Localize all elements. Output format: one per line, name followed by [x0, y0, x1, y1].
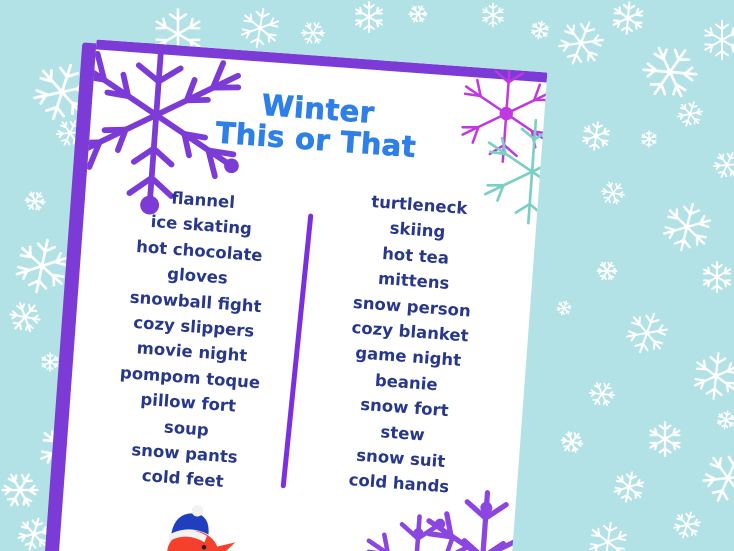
right-column-list: turtleneckskiinghot teamittenssnow perso…: [290, 185, 518, 504]
snowflake-icon: [618, 304, 677, 363]
snowflake-icon: [608, 0, 647, 38]
snowflake-icon: [646, 420, 684, 458]
snowflake-icon: [235, 3, 286, 54]
snowflake-icon: [528, 18, 552, 42]
card-top-band: [96, 39, 548, 82]
snowflake-icon: [609, 467, 649, 507]
snowflake-icon: [583, 517, 633, 551]
snowflake-icon: [595, 175, 632, 212]
snowflake-icon: [640, 130, 658, 148]
snowflake-icon: [20, 186, 51, 217]
snowflake-icon: [1, 293, 49, 341]
bird-with-winter-hat-icon: [149, 500, 241, 551]
this-or-that-columns: flannelice skatinghot chocolateglovessno…: [64, 179, 537, 516]
snowflake-icon: [668, 506, 706, 544]
snowflake-icon: [707, 145, 734, 185]
snowflake-icon: [0, 463, 47, 518]
left-column-list: flannelice skatinghot chocolateglovessno…: [84, 181, 312, 500]
snowflake-icon: [548, 10, 613, 75]
snowflake-icon: [555, 425, 589, 459]
snowflake-icon: [714, 408, 734, 431]
snowflake-icon: [592, 256, 622, 286]
page-title: Winter This or That: [89, 77, 544, 172]
screenshot-canvas: Winter This or That flannelice skatingho…: [0, 0, 734, 551]
snowflake-icon: [480, 2, 506, 28]
snowflake-icon: [578, 118, 614, 154]
snowflake-icon: [687, 347, 734, 404]
snowflake-icon: [672, 96, 707, 131]
snowflake-icon: [700, 18, 734, 62]
printable-card: Winter This or That flannelice skatingho…: [59, 39, 548, 551]
card-surface: Winter This or That flannelice skatingho…: [59, 39, 548, 551]
snowflake-icon: [654, 194, 719, 259]
snowflake-icon: [554, 298, 575, 319]
snowflake-icon: [295, 15, 331, 51]
snowflake-icon: [691, 441, 734, 515]
snowflake-icon: [40, 352, 60, 372]
snowflake-icon: [583, 375, 622, 414]
snowflake-icon: [404, 0, 431, 27]
snowflake-icon: [628, 30, 712, 114]
snowflake-icon: [700, 260, 734, 294]
snowflake-icon: [352, 0, 386, 34]
